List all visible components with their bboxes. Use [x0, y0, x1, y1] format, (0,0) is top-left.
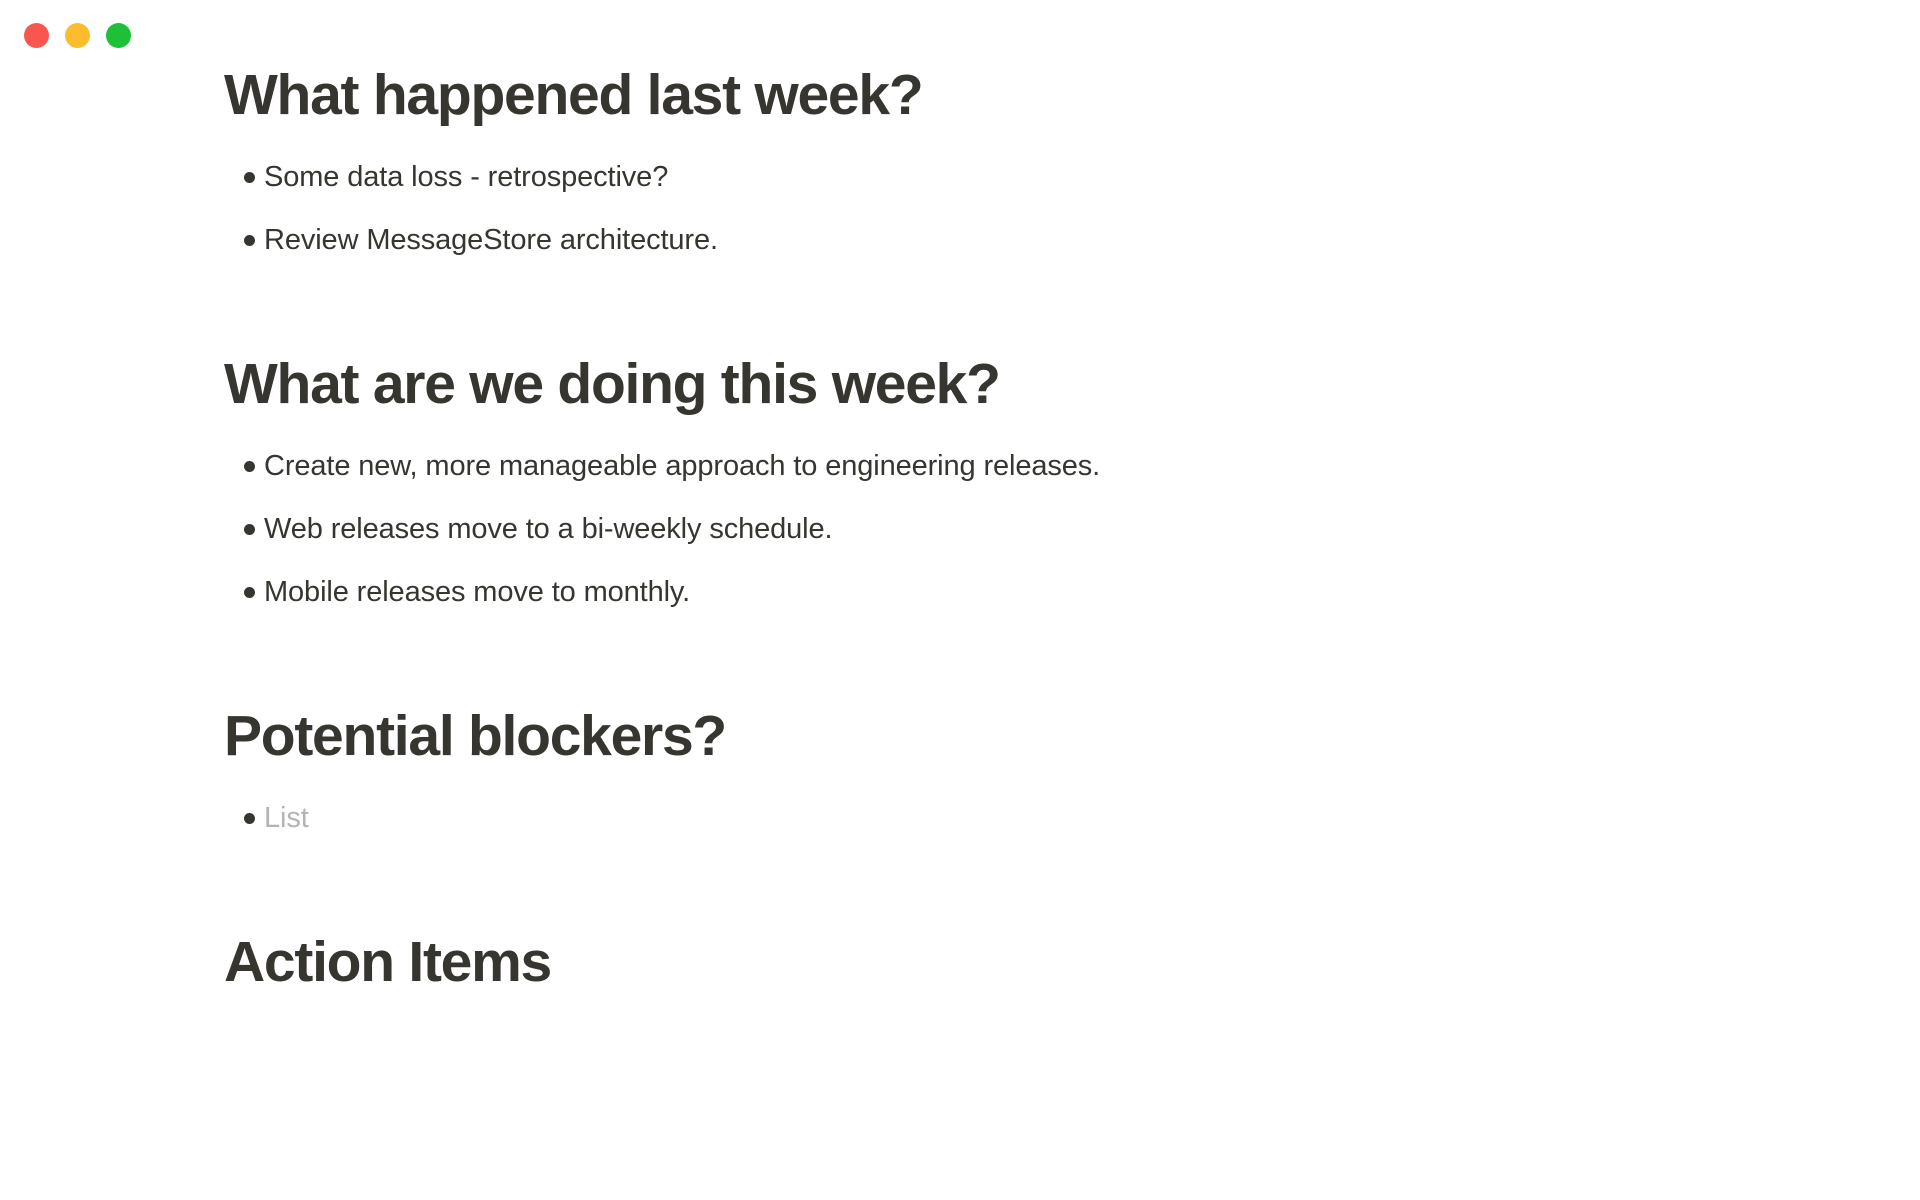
document-content: What happened last week?Some data loss -…: [224, 62, 1784, 995]
list-item[interactable]: Mobile releases move to monthly.: [224, 569, 1784, 615]
section-heading[interactable]: Potential blockers?: [224, 703, 1784, 769]
list-item-label[interactable]: Mobile releases move to monthly.: [264, 574, 690, 610]
bullet-dot-icon: [224, 448, 264, 484]
bullet-list: List: [224, 795, 1784, 841]
list-item[interactable]: Web releases move to a bi-weekly schedul…: [224, 506, 1784, 552]
bullet-dot-icon: [224, 574, 264, 610]
list-item[interactable]: Review MessageStore architecture.: [224, 217, 1784, 263]
list-item-label[interactable]: Create new, more manageable approach to …: [264, 448, 1100, 484]
document-section: Potential blockers?List: [224, 703, 1784, 841]
list-item-label[interactable]: Some data loss - retrospective?: [264, 159, 668, 195]
bullet-dot-icon: [224, 222, 264, 258]
bullet-dot-icon: [224, 800, 264, 836]
document-section: What happened last week?Some data loss -…: [224, 62, 1784, 263]
list-item-label[interactable]: Review MessageStore architecture.: [264, 222, 718, 258]
list-item-label[interactable]: Web releases move to a bi-weekly schedul…: [264, 511, 832, 547]
bullet-dot-icon: [224, 159, 264, 195]
section-heading[interactable]: What happened last week?: [224, 62, 1784, 128]
list-item-placeholder[interactable]: List: [264, 800, 309, 836]
list-item[interactable]: Some data loss - retrospective?: [224, 154, 1784, 200]
bullet-dot-icon: [224, 511, 264, 547]
bullet-list: Create new, more manageable approach to …: [224, 443, 1784, 615]
section-heading[interactable]: What are we doing this week?: [224, 351, 1784, 417]
document-canvas[interactable]: What happened last week?Some data loss -…: [0, 0, 1920, 1200]
list-item[interactable]: Create new, more manageable approach to …: [224, 443, 1784, 489]
document-section: Action Items: [224, 929, 1784, 995]
bullet-list: Some data loss - retrospective?Review Me…: [224, 154, 1784, 263]
document-section: What are we doing this week?Create new, …: [224, 351, 1784, 615]
section-heading[interactable]: Action Items: [224, 929, 1784, 995]
list-item[interactable]: List: [224, 795, 1784, 841]
